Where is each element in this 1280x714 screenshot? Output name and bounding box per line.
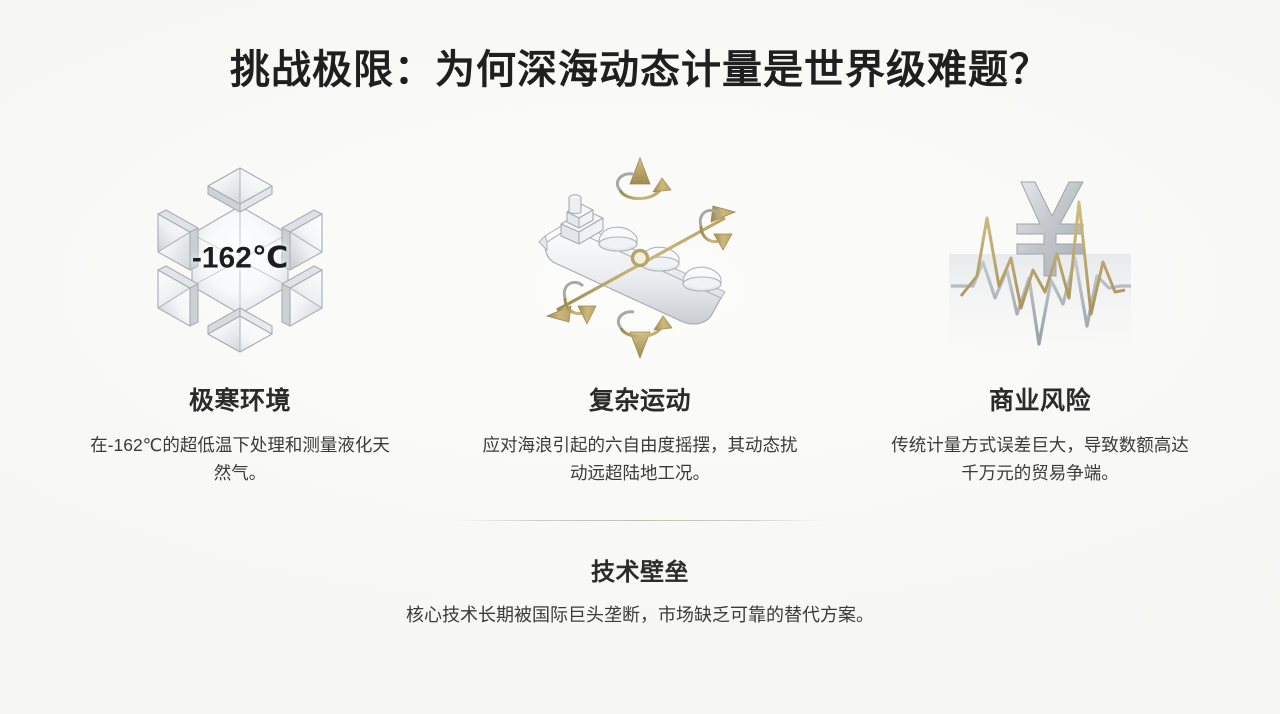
challenge-card-risk: 商业风险 传统计量方式误差巨大，导致数额高达千万元的贸易争端。 [860,150,1220,488]
card-title-cold: 极寒环境 [189,381,291,417]
card-desc-motion: 应对海浪引起的六自由度摇摆，其动态扰动远超陆地工况。 [480,431,800,488]
challenge-card-motion: 复杂运动 应对海浪引起的六自由度摇摆，其动态扰动远超陆地工况。 [460,150,820,488]
footer-desc: 核心技术长期被国际巨头垄断，市场缺乏可靠的替代方案。 [0,601,1280,630]
footer-title: 技术壁垒 [0,552,1280,587]
challenge-card-list: -162℃ 极寒环境 在-162℃的超低温下处理和测量液化天然气。 [60,150,1220,488]
temperature-value: -162℃ [192,240,288,275]
lng-ship-six-dof-icon [525,150,755,365]
challenge-card-cold: -162℃ 极寒环境 在-162℃的超低温下处理和测量液化天然气。 [60,150,420,488]
card-title-motion: 复杂运动 [589,381,691,417]
lng-ship-six-dof-svg [525,150,755,365]
card-desc-cold: 在-162℃的超低温下处理和测量液化天然气。 [90,431,390,488]
yen-volatility-svg [925,158,1155,358]
card-desc-risk: 传统计量方式误差巨大，导致数额高达千万元的贸易争端。 [890,431,1190,488]
card-title-risk: 商业风险 [989,381,1091,417]
slide-root: 挑战极限：为何深海动态计量是世界级难题？ [0,0,1280,714]
yen-volatility-chart-icon [925,150,1155,365]
footer-block: 技术壁垒 核心技术长期被国际巨头垄断，市场缺乏可靠的替代方案。 [0,552,1280,630]
page-title: 挑战极限：为何深海动态计量是世界级难题？ [230,46,1050,94]
page-title-wrap: 挑战极限：为何深海动态计量是世界级难题？ [0,46,1280,94]
snowflake-crystal-icon: -162℃ [125,150,355,365]
section-divider [455,520,825,521]
